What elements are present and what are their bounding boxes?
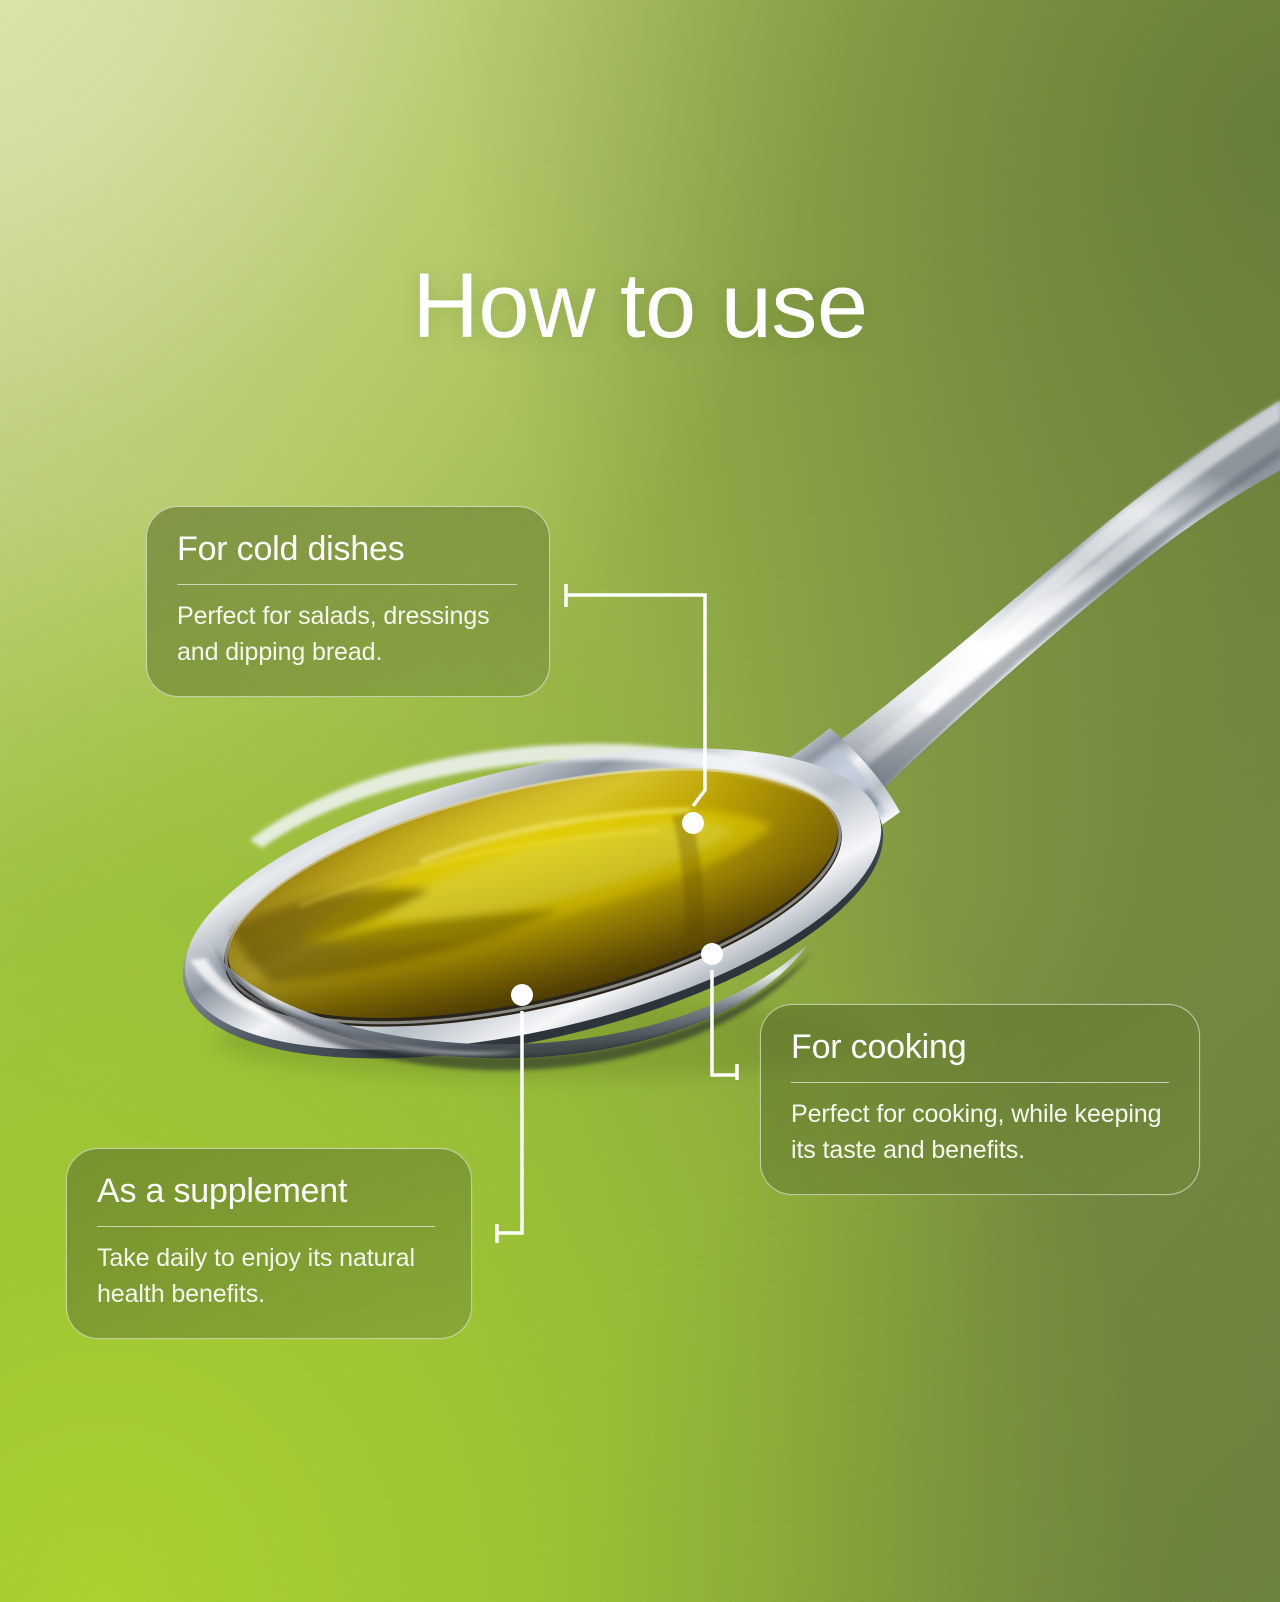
callout-title-supplement: As a supplement <box>97 1173 441 1210</box>
marker-cold-dishes <box>682 812 704 834</box>
connector-path-supplement <box>497 1011 522 1233</box>
connector-path-cold-dishes <box>566 595 705 806</box>
connector-lines <box>0 0 1280 1602</box>
callout-divider <box>97 1226 435 1227</box>
callout-title-cold-dishes: For cold dishes <box>177 531 519 568</box>
callout-divider <box>791 1082 1169 1083</box>
callout-title-cooking: For cooking <box>791 1029 1169 1066</box>
callout-card-cooking[interactable]: For cooking Perfect for cooking, while k… <box>760 1004 1200 1195</box>
marker-cooking <box>701 943 723 965</box>
page-title: How to use <box>0 260 1280 352</box>
callout-divider <box>177 584 517 585</box>
callout-body-cold-dishes: Perfect for salads, dressings and dippin… <box>177 599 519 670</box>
connector-path-cooking <box>712 970 737 1075</box>
how-to-use-infographic: How to use For cold dishes Perfect for s… <box>0 0 1280 1602</box>
callout-card-supplement[interactable]: As a supplement Take daily to enjoy its … <box>66 1148 472 1339</box>
callout-card-cold-dishes[interactable]: For cold dishes Perfect for salads, dres… <box>146 506 550 697</box>
marker-supplement <box>511 984 533 1006</box>
callout-body-cooking: Perfect for cooking, while keeping its t… <box>791 1097 1169 1168</box>
callout-body-supplement: Take daily to enjoy its natural health b… <box>97 1241 441 1312</box>
connector-dots <box>511 812 723 1006</box>
